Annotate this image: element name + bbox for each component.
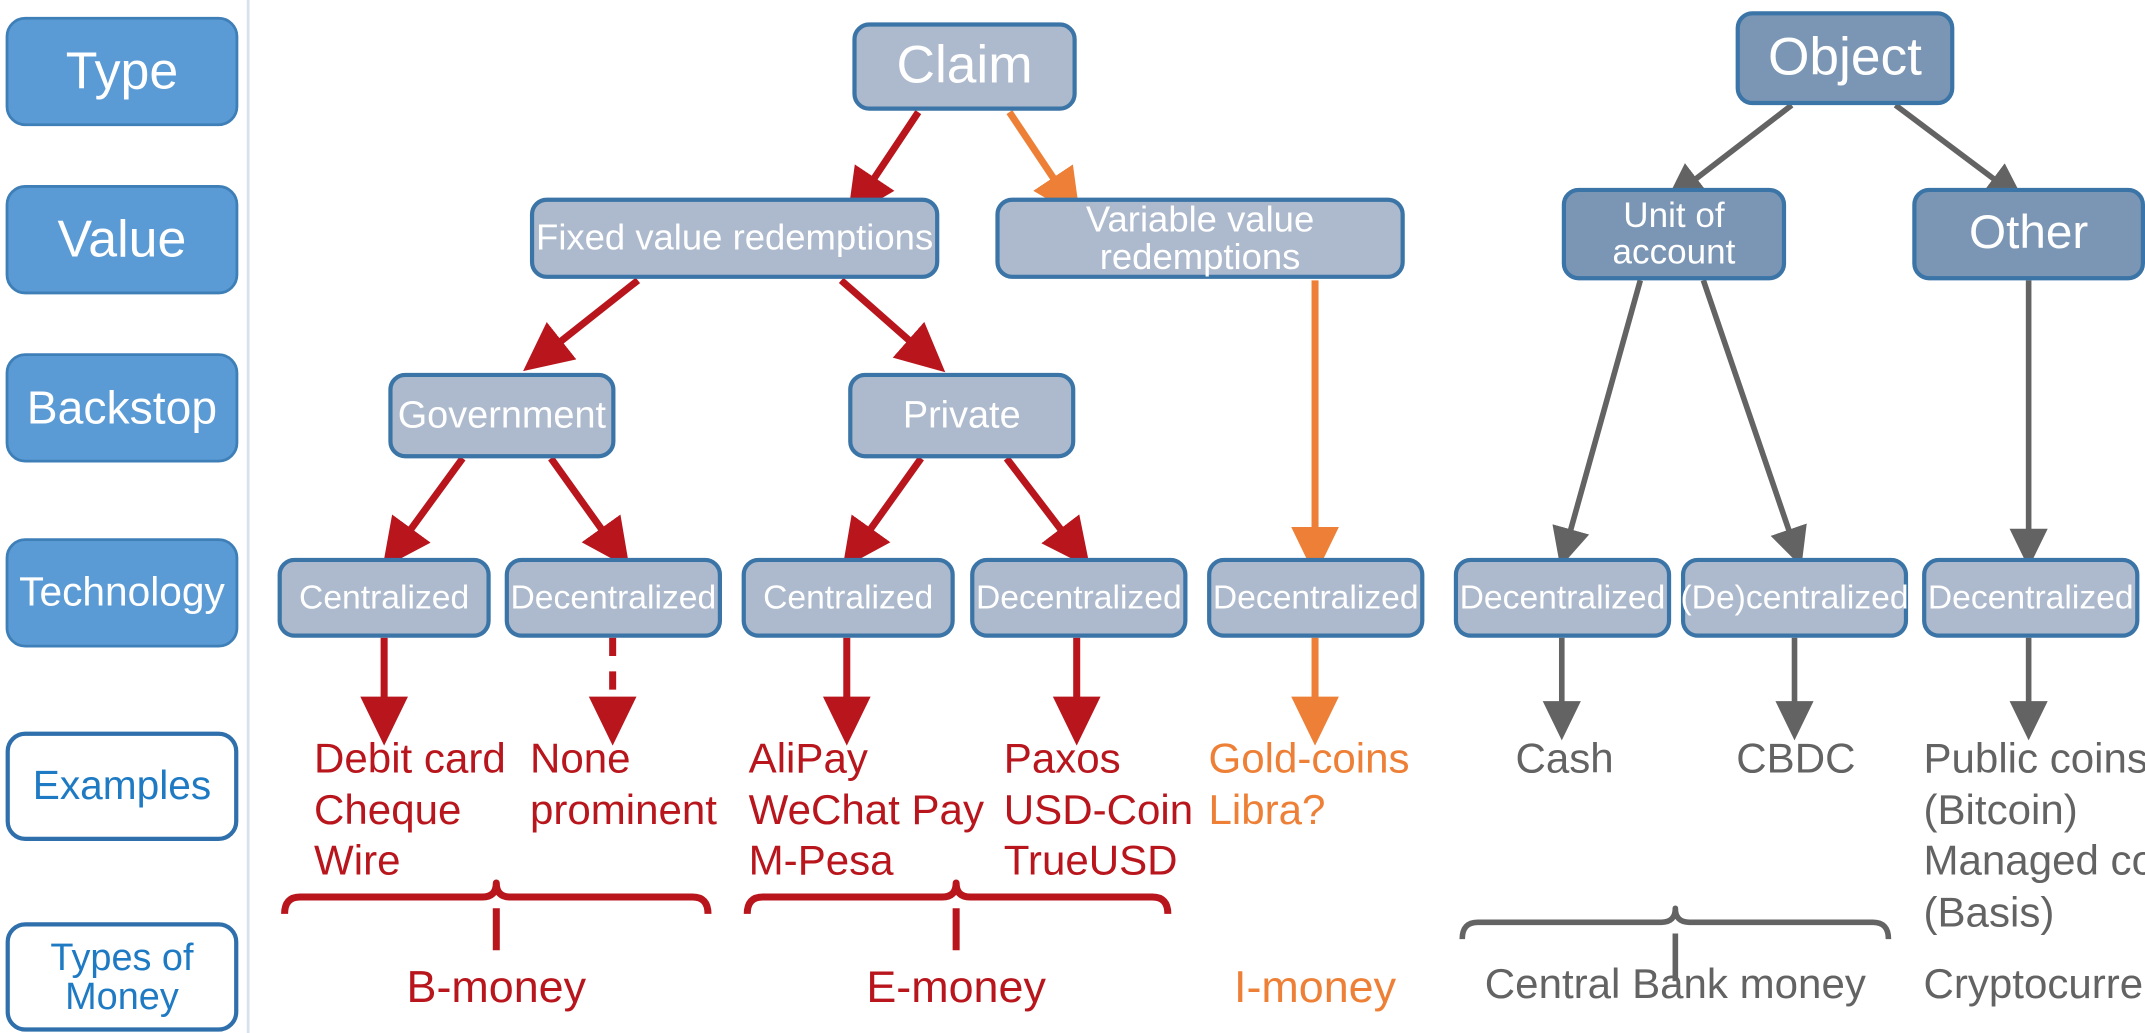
row-label-value-text: Value bbox=[58, 212, 187, 266]
node-variable-value-redemptions-label: Variable value redemptions bbox=[1000, 200, 1401, 277]
examples-cbdc: CBDC bbox=[1682, 734, 1909, 785]
node-private[interactable]: Private bbox=[848, 373, 1075, 458]
row-label-backstop-text: Backstop bbox=[27, 384, 217, 433]
node-tech-decentralized-variable[interactable]: Decentralized bbox=[1207, 558, 1424, 638]
node-other[interactable]: Other bbox=[1912, 188, 2145, 281]
node-unit-of-account-label: Unit of account bbox=[1613, 197, 1736, 271]
row-label-value[interactable]: Value bbox=[6, 185, 239, 294]
node-other-label: Other bbox=[1969, 209, 2088, 259]
examples-i-money: Gold-coins Libra? bbox=[1208, 734, 1474, 837]
node-fixed-value-redemptions[interactable]: Fixed value redemptions bbox=[530, 198, 939, 279]
node-government-label: Government bbox=[398, 396, 606, 436]
row-label-examples[interactable]: Examples bbox=[6, 732, 239, 841]
money-tree-diagram: Type Value Backstop Technology Examples … bbox=[0, 0, 2145, 1033]
node-tech-decentralized-private[interactable]: Decentralized bbox=[970, 558, 1187, 638]
column-divider bbox=[247, 0, 250, 1033]
node-government[interactable]: Government bbox=[388, 373, 615, 458]
node-tech-decentralized-uoa[interactable]: Decentralized bbox=[1454, 558, 1671, 638]
examples-cryptocurrency: Public coins (Bitcoin) Managed coins (Ba… bbox=[1923, 734, 2145, 939]
node-object[interactable]: Object bbox=[1736, 11, 1955, 105]
row-label-backstop[interactable]: Backstop bbox=[6, 353, 239, 462]
node-unit-of-account[interactable]: Unit of account bbox=[1562, 188, 1786, 281]
node-tech6-label: Decentralized bbox=[1460, 580, 1666, 615]
node-tech4-label: Decentralized bbox=[976, 580, 1182, 615]
node-fixed-value-redemptions-label: Fixed value redemptions bbox=[536, 219, 933, 257]
row-label-examples-text: Examples bbox=[33, 765, 212, 808]
row-label-type-text: Type bbox=[66, 44, 178, 98]
node-tech3-label: Centralized bbox=[763, 580, 933, 615]
node-tech-centralized-gov[interactable]: Centralized bbox=[278, 558, 491, 638]
examples-e-money-centralized: AliPay WeChat Pay M-Pesa bbox=[749, 734, 1029, 888]
node-claim-label: Claim bbox=[896, 39, 1032, 95]
money-type-central-bank-money: Central Bank money bbox=[1458, 962, 1893, 1010]
node-tech-decentralized-gov[interactable]: Decentralized bbox=[505, 558, 722, 638]
node-tech-centralized-private[interactable]: Centralized bbox=[742, 558, 955, 638]
row-label-technology[interactable]: Technology bbox=[6, 538, 239, 647]
row-label-technology-text: Technology bbox=[19, 572, 225, 615]
node-tech-de-centralized-uoa[interactable]: (De)centralized bbox=[1681, 558, 1908, 638]
node-tech2-label: Decentralized bbox=[510, 580, 716, 615]
node-object-label: Object bbox=[1768, 30, 1922, 86]
node-tech8-label: Decentralized bbox=[1928, 580, 2134, 615]
examples-b-money-centralized: Debit card Cheque Wire bbox=[314, 734, 566, 888]
examples-b-money-decentralized: None prominent bbox=[530, 734, 782, 837]
row-label-type[interactable]: Type bbox=[6, 17, 239, 126]
node-tech-decentralized-other[interactable]: Decentralized bbox=[1922, 558, 2139, 638]
node-variable-value-redemptions[interactable]: Variable value redemptions bbox=[995, 198, 1404, 279]
node-tech7-label: (De)centralized bbox=[1680, 580, 1908, 615]
node-private-label: Private bbox=[903, 396, 1021, 436]
row-label-types-of-money-text: Types of Money bbox=[50, 937, 193, 1016]
money-type-cryptocurrency: Cryptocurrency bbox=[1923, 962, 2145, 1010]
examples-cash: Cash bbox=[1452, 734, 1676, 785]
node-claim[interactable]: Claim bbox=[852, 22, 1076, 110]
row-label-types-of-money[interactable]: Types of Money bbox=[6, 922, 239, 1031]
money-type-b-money: B-money bbox=[356, 962, 636, 1014]
node-tech5-label: Decentralized bbox=[1213, 580, 1419, 615]
money-type-e-money: E-money bbox=[816, 962, 1096, 1014]
node-tech1-label: Centralized bbox=[299, 580, 469, 615]
money-type-i-money: I-money bbox=[1175, 962, 1455, 1014]
